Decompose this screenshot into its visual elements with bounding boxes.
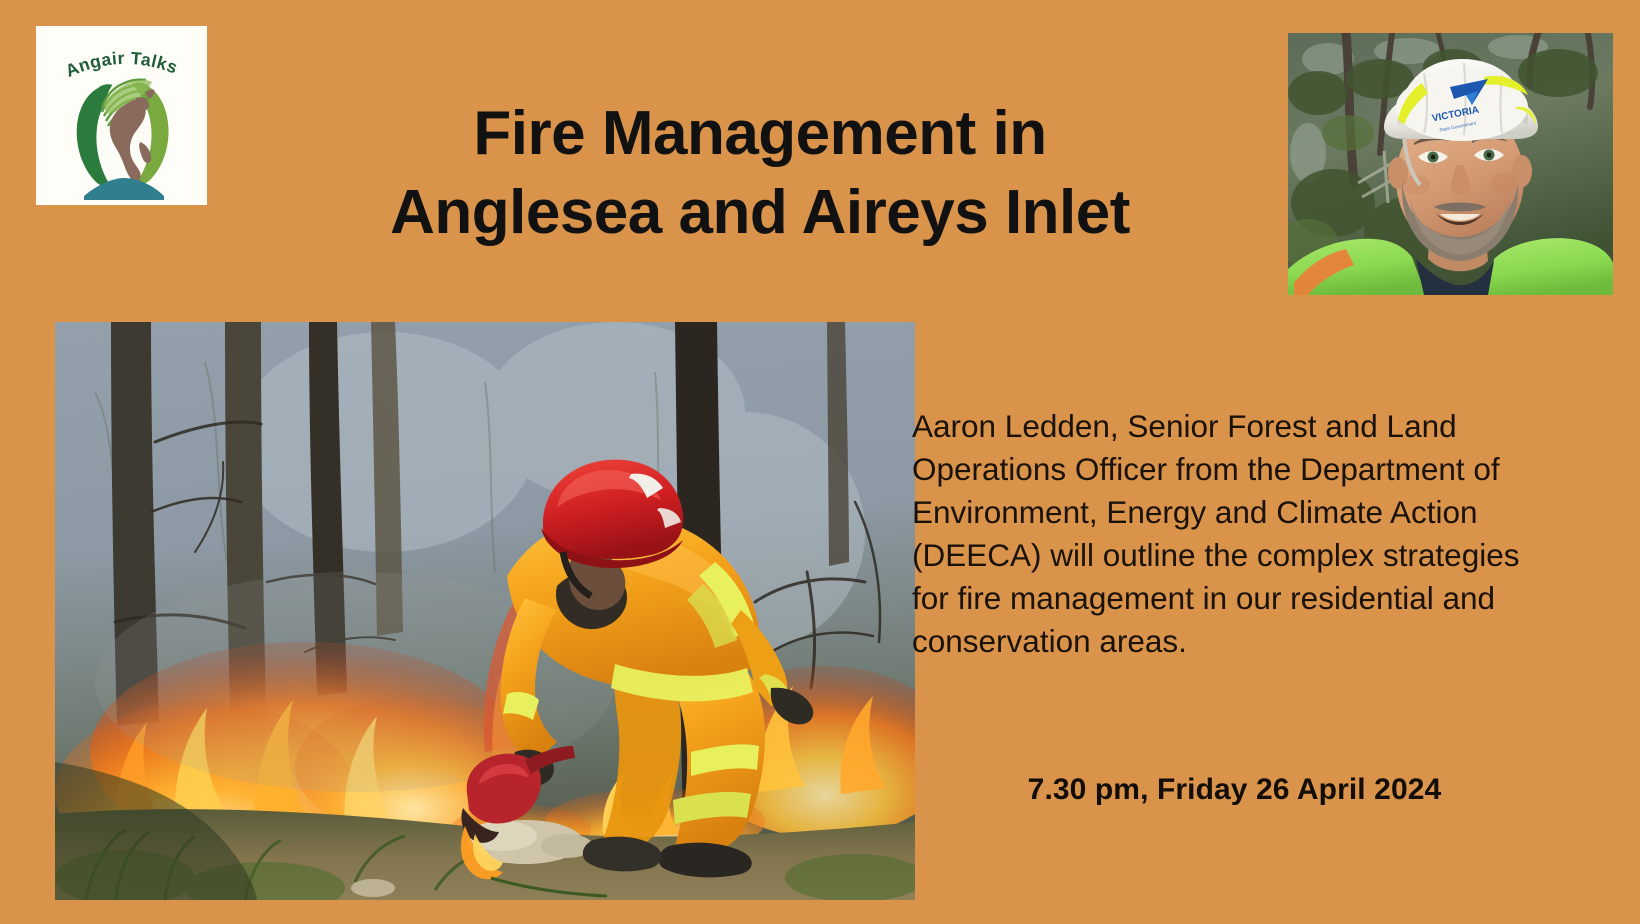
- speaker-description: Aaron Ledden, Senior Forest and Land Ope…: [912, 405, 1557, 663]
- description-line: Environment, Energy and Climate Action: [912, 491, 1557, 534]
- description-line: conservation areas.: [912, 620, 1557, 663]
- planned-burn-photo: [55, 322, 915, 900]
- poster-canvas: Angair Talks: [0, 0, 1640, 924]
- poster-title-line-2: Anglesea and Aireys Inlet: [240, 174, 1280, 253]
- poster-title: Fire Management in Anglesea and Aireys I…: [240, 95, 1280, 252]
- planned-burn-photo-svg: [55, 322, 915, 900]
- description-line: (DEECA) will outline the complex strateg…: [912, 534, 1557, 577]
- description-line: Operations Officer from the Department o…: [912, 448, 1557, 491]
- poster-title-line-1: Fire Management in: [240, 95, 1280, 174]
- description-line: for fire management in our residential a…: [912, 577, 1557, 620]
- angair-talks-logo: Angair Talks: [36, 26, 207, 205]
- description-line: Aaron Ledden, Senior Forest and Land: [912, 405, 1557, 448]
- speaker-portrait-svg: VICTORIA State Government: [1288, 33, 1613, 295]
- angair-talks-logo-svg: Angair Talks: [36, 26, 207, 205]
- speaker-portrait: VICTORIA State Government: [1288, 33, 1613, 295]
- event-datetime: 7.30 pm, Friday 26 April 2024: [912, 773, 1557, 807]
